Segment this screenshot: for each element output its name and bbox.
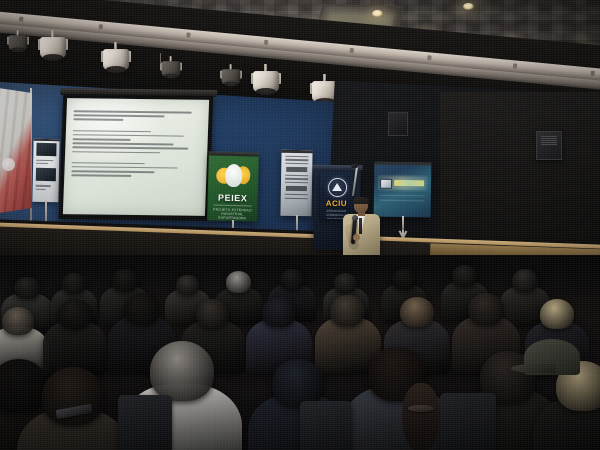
gooseneck-microphone-icon <box>348 166 362 200</box>
audience-person-head <box>124 293 160 325</box>
wall-speaker-right-icon <box>536 131 562 160</box>
auditorium-photo: PEIEX PROJETO EXTENSAO INDUSTRIAL EXPORT… <box>0 0 600 450</box>
slide-text-line <box>72 147 188 150</box>
audience-person-head <box>62 273 86 294</box>
audience-person-head <box>334 273 357 293</box>
ponytail-band <box>408 405 434 412</box>
projection-screen <box>59 94 214 221</box>
sponsor-logo-icon <box>380 179 392 189</box>
projection-screen-surface <box>63 98 209 216</box>
slide-text-line <box>71 170 154 173</box>
stage-spotlight-icon <box>103 42 129 72</box>
ponytail <box>402 383 440 450</box>
stage-spotlight-icon <box>40 30 66 60</box>
audience-person-head <box>14 277 40 299</box>
slide-text-line <box>72 166 178 169</box>
stage-spotlight-icon <box>253 64 279 94</box>
audience-person-head <box>58 299 92 329</box>
audience-person-head <box>272 359 324 407</box>
slide-text-line <box>73 134 184 137</box>
aciu-triangle-emblem-icon <box>328 178 347 197</box>
slide-text-line <box>71 174 132 176</box>
chair-back <box>440 393 496 450</box>
audience-person-head <box>280 269 304 290</box>
poster-roll-up-left <box>32 139 59 203</box>
audience-person-head <box>452 265 477 287</box>
stage-spotlight-icon <box>162 56 181 78</box>
audience-person-head <box>330 295 365 326</box>
audience-person-head <box>112 269 138 292</box>
banner-sponsor-blue <box>374 162 432 218</box>
presenter-hand <box>353 234 360 241</box>
peiex-globe-logo-icon <box>216 164 251 191</box>
stage-spotlight-icon <box>9 30 28 52</box>
banner-peiex: PEIEX PROJETO EXTENSAO INDUSTRIAL EXPORT… <box>207 151 259 221</box>
presenter-tie <box>359 218 362 234</box>
slide-text-line <box>73 138 131 140</box>
audience-person-head <box>512 269 538 292</box>
banner-program-text <box>280 150 312 217</box>
audience-person-head <box>2 307 34 335</box>
audience-person-head <box>42 367 104 425</box>
wall-speaker-center-icon <box>388 112 408 136</box>
banner-peiex-subtitle: PROJETO EXTENSAO INDUSTRIAL EXPORTADORA <box>207 207 257 220</box>
ceiling-downlight-icon <box>463 3 474 10</box>
audience-person-head <box>176 275 199 295</box>
slide-text-line <box>72 142 173 145</box>
slide-text-line <box>73 119 123 121</box>
audience-person-head <box>468 293 504 325</box>
slide-text-line <box>72 162 145 164</box>
audience-person-head <box>392 269 416 290</box>
slide-text-line <box>73 130 151 133</box>
slide-text-line <box>74 110 193 113</box>
baseball-cap <box>524 339 580 375</box>
slide-text-line <box>72 151 160 154</box>
chair-back <box>118 395 172 450</box>
audience-person-head <box>400 297 434 327</box>
slide-content <box>71 110 200 180</box>
flag-on-pole <box>0 88 32 213</box>
audience-person-head <box>150 341 214 401</box>
audience-person-head <box>226 271 251 293</box>
rigging-bracket-icon <box>160 53 163 64</box>
chair-back <box>300 401 352 450</box>
audience-person-head <box>262 297 296 327</box>
banner-peiex-title: PEIEX <box>208 192 258 203</box>
sponsor-wordmark <box>394 180 424 186</box>
ceiling-downlight-icon <box>372 10 383 17</box>
stage-spotlight-icon <box>222 64 241 86</box>
presenter-hair <box>353 197 369 204</box>
audience-person-head <box>196 299 229 328</box>
audience-person-head <box>540 299 574 329</box>
slide-text-line <box>73 114 164 117</box>
seated-audience <box>0 255 600 450</box>
